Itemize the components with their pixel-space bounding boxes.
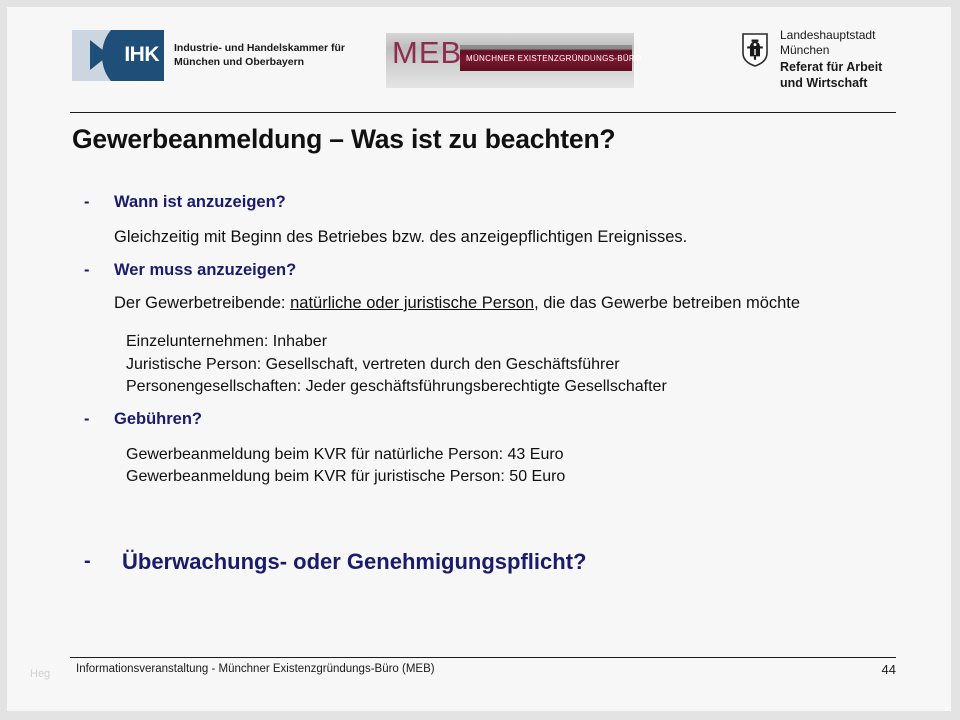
slide-body: - Wann ist anzuzeigen? Gleichzeitig mit … [80, 192, 938, 575]
spacer [80, 281, 938, 293]
paragraph-wer-before: Der Gewerbetreibende: [114, 294, 290, 312]
bullet-heading-ueberwachung: - Überwachungs- oder Genehmigungspflicht… [80, 549, 938, 575]
logo-row: IHK Industrie- und Handelskammer für Mün… [0, 26, 960, 88]
spacer [80, 519, 938, 549]
footer-text: Informationsveranstaltung - Münchner Exi… [76, 663, 435, 675]
bullet-dash-icon: - [84, 549, 91, 573]
bullet-dash-icon: - [84, 409, 90, 430]
paragraph-wann: Gleichzeitig mit Beginn des Betriebes bz… [80, 227, 938, 249]
slide-edge-right [951, 0, 960, 720]
spacer [80, 213, 938, 227]
muenchner-kindl-shield-icon [742, 33, 768, 72]
sublist-wer: Einzelunternehmen: Inhaber Juristische P… [80, 331, 938, 399]
spacer [80, 399, 938, 409]
list-item: Gewerbeanmeldung beim KVR für juristisch… [126, 466, 938, 489]
spacer [80, 430, 938, 444]
bullet-heading-wer: - Wer muss anzuzeigen? [80, 260, 938, 281]
footer-divider [70, 657, 896, 658]
lhm-caption: Landeshauptstadt München Referat für Arb… [780, 28, 882, 92]
meb-bar-text: MÜNCHNER EXISTENZGRÜNDUNGS-BÜRO [466, 54, 642, 63]
watermark: Heg [30, 668, 50, 680]
paragraph-wer: Der Gewerbetreibende: natürliche oder ju… [80, 293, 938, 315]
bullet-heading-label: Wer muss anzuzeigen? [114, 261, 296, 279]
lhm-line-2: München [780, 43, 882, 58]
bullet-heading-label: Überwachungs- oder Genehmigungspflicht? [122, 549, 586, 574]
bullet-block-gebuehren: - Gebühren? Gewerbeanmeldung beim KVR fü… [80, 409, 938, 489]
list-item: Personengesellschaften: Jeder geschäftsf… [126, 376, 938, 399]
bullet-heading-label: Wann ist anzuzeigen? [114, 193, 286, 211]
slide-edge-left [0, 0, 7, 720]
ihk-letters: IHK [124, 43, 159, 67]
sublist-gebuehren: Gewerbeanmeldung beim KVR für natürliche… [80, 444, 938, 489]
meb-logo: MEB MÜNCHNER EXISTENZGRÜNDUNGS-BÜRO [386, 33, 634, 88]
spacer [80, 248, 938, 260]
lhm-logo: Landeshauptstadt München Referat für Arb… [742, 28, 882, 92]
bullet-dash-icon: - [84, 192, 90, 213]
slide-edge-top [0, 0, 960, 7]
bullet-heading-gebuehren: - Gebühren? [80, 409, 938, 430]
paragraph-wer-after: , die das Gewerbe betreiben möchte [534, 294, 800, 312]
ihk-logo: IHK Industrie- und Handelskammer für Mün… [72, 30, 345, 81]
page-title: Gewerbeanmeldung – Was ist zu beachten? [72, 124, 615, 155]
footer-page-number: 44 [882, 662, 896, 677]
lhm-line-4: und Wirtschaft [780, 76, 882, 92]
lhm-line-3: Referat für Arbeit [780, 60, 882, 76]
slide: IHK Industrie- und Handelskammer für Mün… [0, 0, 960, 720]
paragraph-wer-underlined: natürliche oder juristische Person [290, 294, 534, 312]
ihk-caption: Industrie- und Handelskammer für München… [174, 42, 345, 70]
bullet-heading-label: Gebühren? [114, 410, 202, 428]
lhm-line-1: Landeshauptstadt [780, 28, 882, 43]
bullet-block-wann: - Wann ist anzuzeigen? Gleichzeitig mit … [80, 192, 938, 248]
bullet-heading-wann: - Wann ist anzuzeigen? [80, 192, 938, 213]
bullet-block-wer: - Wer muss anzuzeigen? Der Gewerbetreibe… [80, 260, 938, 399]
meb-bar: MÜNCHNER EXISTENZGRÜNDUNGS-BÜRO [460, 45, 632, 71]
list-item: Juristische Person: Gesellschaft, vertre… [126, 354, 938, 377]
slide-edge-bottom [0, 711, 960, 720]
ihk-mark-icon: IHK [72, 30, 164, 81]
spacer [80, 489, 938, 519]
list-item: Gewerbeanmeldung beim KVR für natürliche… [126, 444, 938, 467]
bullet-dash-icon: - [84, 260, 90, 281]
ihk-arrow-icon [90, 40, 109, 70]
meb-wordmark: MEB [392, 36, 462, 70]
spacer [80, 315, 938, 331]
title-divider [70, 112, 896, 113]
list-item: Einzelunternehmen: Inhaber [126, 331, 938, 354]
